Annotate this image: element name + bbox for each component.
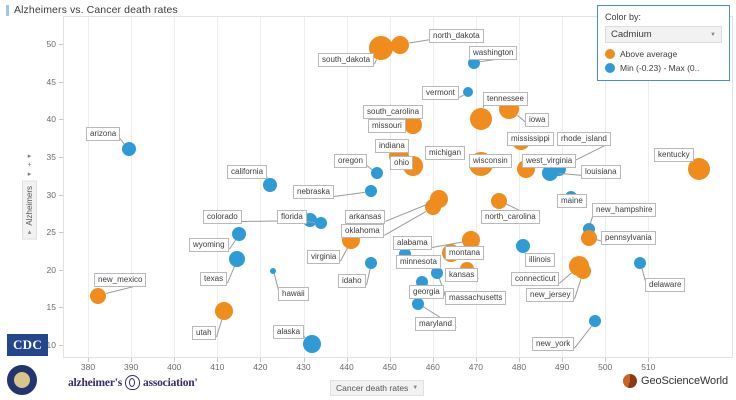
point-label-virginia: virginia <box>307 250 340 264</box>
point-label-new_mexico: new_mexico <box>94 273 146 287</box>
y-axis-label: Alzheimers <box>25 186 34 226</box>
color-by-dropdown[interactable]: Cadmium ▼ <box>605 26 722 43</box>
point-label-oregon: oregon <box>334 154 367 168</box>
government-seal-icon <box>7 365 37 395</box>
gridline <box>260 17 261 357</box>
title-accent-bar <box>6 5 9 16</box>
legend-swatch-icon <box>605 49 615 59</box>
point-label-massachusetts: massachusetts <box>445 291 506 305</box>
geoscienceworld-logo: GeoScienceWorld <box>623 374 728 388</box>
gridline <box>88 17 89 357</box>
point-label-arkansas: arkansas <box>345 210 385 224</box>
label-leader-line <box>459 94 464 97</box>
legend-item-0[interactable]: Above average <box>605 49 722 59</box>
y-tick-label: 40 <box>30 114 56 124</box>
x-tick-label: 400 <box>159 362 189 372</box>
page-title: Alzheimers vs. Cancer death rates <box>6 4 178 16</box>
x-tick-label: 410 <box>202 362 232 372</box>
point-label-ohio: ohio <box>390 156 413 170</box>
data-point-vermont[interactable] <box>463 87 473 97</box>
point-label-new_hampshire: new_hampshire <box>592 203 656 217</box>
data-point-idaho[interactable] <box>365 257 377 269</box>
y-tick-label: 20 <box>30 265 56 275</box>
x-tick-label: 390 <box>116 362 146 372</box>
point-label-tennessee: tennessee <box>483 92 528 106</box>
point-label-north_carolina: north_carolina <box>481 210 540 224</box>
data-point-delaware[interactable] <box>634 257 646 269</box>
data-point-utah[interactable] <box>215 302 233 320</box>
label-leader-line <box>334 192 365 197</box>
alzheimers-word: alzheimer's <box>68 377 122 389</box>
point-label-iowa: iowa <box>525 113 549 127</box>
x-tick-label: 500 <box>590 362 620 372</box>
x-tick-label: 490 <box>547 362 577 372</box>
data-point-california[interactable] <box>263 178 277 192</box>
point-label-wyoming: wyoming <box>189 238 229 252</box>
label-leader-line <box>229 240 236 250</box>
legend-swatch-icon <box>605 63 615 73</box>
cdc-logo: CDC <box>7 334 48 356</box>
point-label-rhode_island: rhode_island <box>557 132 611 146</box>
data-point-new_mexico[interactable] <box>90 288 106 304</box>
data-point-arizona[interactable] <box>122 142 136 156</box>
point-label-oklahoma: oklahoma <box>341 224 384 238</box>
y-tick-mark <box>59 157 63 158</box>
data-point-nebraska[interactable] <box>365 185 377 197</box>
y-tick-mark <box>59 232 63 233</box>
point-label-wisconsin: wisconsin <box>469 154 512 168</box>
data-point-florida[interactable] <box>315 217 327 229</box>
y-tick-label: 15 <box>30 302 56 312</box>
y-tick-mark <box>59 345 63 346</box>
data-point-oklahoma[interactable] <box>425 199 441 215</box>
y-tick-mark <box>59 44 63 45</box>
plus-icon[interactable]: + <box>27 161 31 170</box>
alzheimers-mark-icon <box>125 375 140 390</box>
point-label-washington: washington <box>469 46 517 60</box>
y-tick-mark <box>59 195 63 196</box>
legend-panel: Color by: Cadmium ▼ Above averageMin (-0… <box>597 5 730 81</box>
point-label-south_carolina: south_carolina <box>363 105 423 119</box>
y-tick-label: 45 <box>30 77 56 87</box>
label-leader-line <box>374 59 377 64</box>
geoscienceworld-mark-icon <box>623 374 637 388</box>
seal-inner <box>14 372 30 388</box>
gridline <box>433 17 434 357</box>
x-tick-label: 470 <box>461 362 491 372</box>
legend-item-label: Above average <box>620 49 677 59</box>
data-point-new_jersey[interactable] <box>575 263 591 279</box>
x-axis-label: Cancer death rates <box>336 383 408 393</box>
y-tick-mark <box>59 119 63 120</box>
data-point-north_carolina[interactable] <box>491 193 507 209</box>
gridline <box>131 17 132 357</box>
title-text: Alzheimers vs. Cancer death rates <box>14 4 178 16</box>
gridline <box>519 17 520 357</box>
x-tick-label: 420 <box>245 362 275 372</box>
x-tick-label: 450 <box>375 362 405 372</box>
data-point-texas[interactable] <box>229 251 245 267</box>
point-label-south_dakota: south_dakota <box>318 53 374 67</box>
point-label-maine: maine <box>557 194 587 208</box>
label-leader-line <box>574 326 592 349</box>
point-label-arizona: arizona <box>86 127 120 141</box>
point-label-minnesota: minnesota <box>396 255 441 269</box>
label-leader-line <box>366 165 372 170</box>
gridline <box>562 17 563 357</box>
chart-canvas: Alzheimers vs. Cancer death rates north_… <box>0 0 736 400</box>
data-point-illinois[interactable] <box>516 239 530 253</box>
data-point-alaska[interactable] <box>303 335 321 353</box>
point-label-georgia: georgia <box>409 285 444 299</box>
point-label-michigan: michigan <box>425 146 465 160</box>
label-leader-line <box>366 269 371 285</box>
x-tick-label: 380 <box>73 362 103 372</box>
x-tick-label: 460 <box>418 362 448 372</box>
data-point-oregon[interactable] <box>371 167 383 179</box>
data-point-tennessee[interactable] <box>470 108 492 130</box>
point-label-connecticut: connecticut <box>511 272 559 286</box>
data-point-maryland[interactable] <box>412 298 424 310</box>
point-label-indiana: indiana <box>375 139 409 153</box>
point-label-kentucky: kentucky <box>654 148 694 162</box>
point-label-new_york: new_york <box>532 337 574 351</box>
point-label-maryland: maryland <box>415 317 456 331</box>
point-label-texas: texas <box>200 272 227 286</box>
gridline <box>174 17 175 357</box>
point-label-hawaii: hawaii <box>278 287 309 301</box>
data-point-north_dakota[interactable] <box>391 36 409 54</box>
point-label-missouri: missouri <box>368 119 406 133</box>
point-label-mississippi: mississippi <box>507 132 554 146</box>
y-tick-mark <box>59 82 63 83</box>
y-tick-mark <box>59 307 63 308</box>
chevron-down-icon: ▼ <box>412 385 418 391</box>
label-leader-line <box>574 279 582 300</box>
y-axis-controls: ▸ + ▸ ▼ Alzheimers <box>22 152 37 240</box>
label-leader-line <box>559 272 572 283</box>
point-label-idaho: idaho <box>338 274 366 288</box>
legend-title: Color by: <box>605 12 722 22</box>
y-tick-mark <box>59 270 63 271</box>
point-label-utah: utah <box>192 326 216 340</box>
color-by-value: Cadmium <box>611 29 652 40</box>
x-tick-label: 440 <box>332 362 362 372</box>
x-tick-label: 430 <box>289 362 319 372</box>
point-label-north_dakota: north_dakota <box>429 29 484 43</box>
point-label-alaska: alaska <box>273 325 304 339</box>
x-axis-field-pill[interactable]: Cancer death rates ▼ <box>330 380 424 396</box>
gridline <box>347 17 348 357</box>
y-axis-field-pill[interactable]: ▼ Alzheimers <box>22 181 37 240</box>
gridline <box>390 17 391 357</box>
label-leader-line <box>227 266 235 283</box>
point-label-florida: florida <box>277 210 307 224</box>
legend-items: Above averageMin (-0.23) - Max (0.. <box>605 49 722 73</box>
point-label-colorado: colorado <box>203 210 242 224</box>
data-point-pennsylvania[interactable] <box>581 230 597 246</box>
geoscienceworld-text: GeoScienceWorld <box>641 375 728 387</box>
point-label-delaware: delaware <box>645 278 685 292</box>
label-leader-line <box>409 39 431 44</box>
caret-up-icon[interactable]: ▸ <box>28 152 32 161</box>
x-tick-label: 480 <box>504 362 534 372</box>
point-label-vermont: vermont <box>422 86 459 100</box>
legend-item-label: Min (-0.23) - Max (0.. <box>620 63 699 73</box>
caret-down-icon[interactable]: ▸ <box>28 170 32 179</box>
chevron-down-icon-legend: ▼ <box>710 32 716 38</box>
point-label-california: california <box>227 165 267 179</box>
point-label-new_jersey: new_jersey <box>526 288 574 302</box>
point-label-illinois: illinois <box>525 253 555 267</box>
legend-item-1[interactable]: Min (-0.23) - Max (0.. <box>605 63 722 73</box>
alzheimers-association-logo: alzheimer's association' <box>68 375 197 390</box>
point-label-west_virginia: west_virginia <box>522 154 576 168</box>
point-label-montana: montana <box>445 246 484 260</box>
point-label-louisiana: louisiana <box>581 165 621 179</box>
point-label-kansas: kansas <box>445 268 478 282</box>
x-tick-label: 510 <box>633 362 663 372</box>
chevron-down-icon-y: ▼ <box>27 229 33 235</box>
point-label-alabama: alabama <box>393 236 432 250</box>
point-label-nebraska: nebraska <box>293 185 334 199</box>
point-label-pennsylvania: pennsylvania <box>601 231 656 245</box>
y-tick-label: 50 <box>30 39 56 49</box>
association-word: association' <box>143 377 197 389</box>
